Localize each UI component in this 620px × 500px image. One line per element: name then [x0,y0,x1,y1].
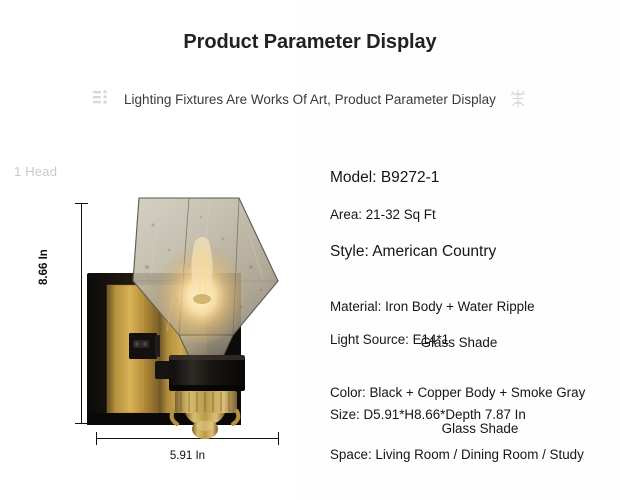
page-title-line2: splay [386,31,437,53]
wall-sconce-illustration [81,195,291,445]
page-title-line1: Product Parameter Di [183,31,386,53]
height-dimension-label: 8.66 In [38,249,50,285]
width-dimension-label: 5.91 In [96,450,279,462]
spec-material: Material: Iron Body + Water Ripple Glass… [330,280,588,370]
spec-space: Space: Living Room / Dining Room / Study [330,446,584,464]
page-header: Product Parameter Display Lighting Fixtu… [0,30,620,56]
spec-light-source: Light Source: E14*1 [330,331,449,349]
decorative-ornament-right-icon [508,88,528,110]
page-subtitle: Lighting Fixtures Are Works Of Art, Prod… [124,92,496,107]
product-parameter-page: Product Parameter Display Lighting Fixtu… [0,0,620,500]
spec-color-line1: Color: Black + Copper Body + Smoke Gray [330,384,620,402]
spec-style: Style: American Country [330,242,496,263]
spec-model: Model: B9272-1 [330,168,439,189]
head-count-badge: 1 Head [14,164,57,179]
spec-size: Size: D5.91*H8.66*Depth 7.87 In [330,406,526,424]
product-image [81,195,291,445]
spec-area: Area: 21-32 Sq Ft [330,206,436,224]
decorative-ornament-left-icon [92,88,112,110]
subtitle-row: Lighting Fixtures Are Works Of Art, Prod… [0,88,620,110]
spec-material-line1: Material: Iron Body + Water Ripple [330,298,588,316]
page-title: Product Parameter Display [160,30,460,56]
